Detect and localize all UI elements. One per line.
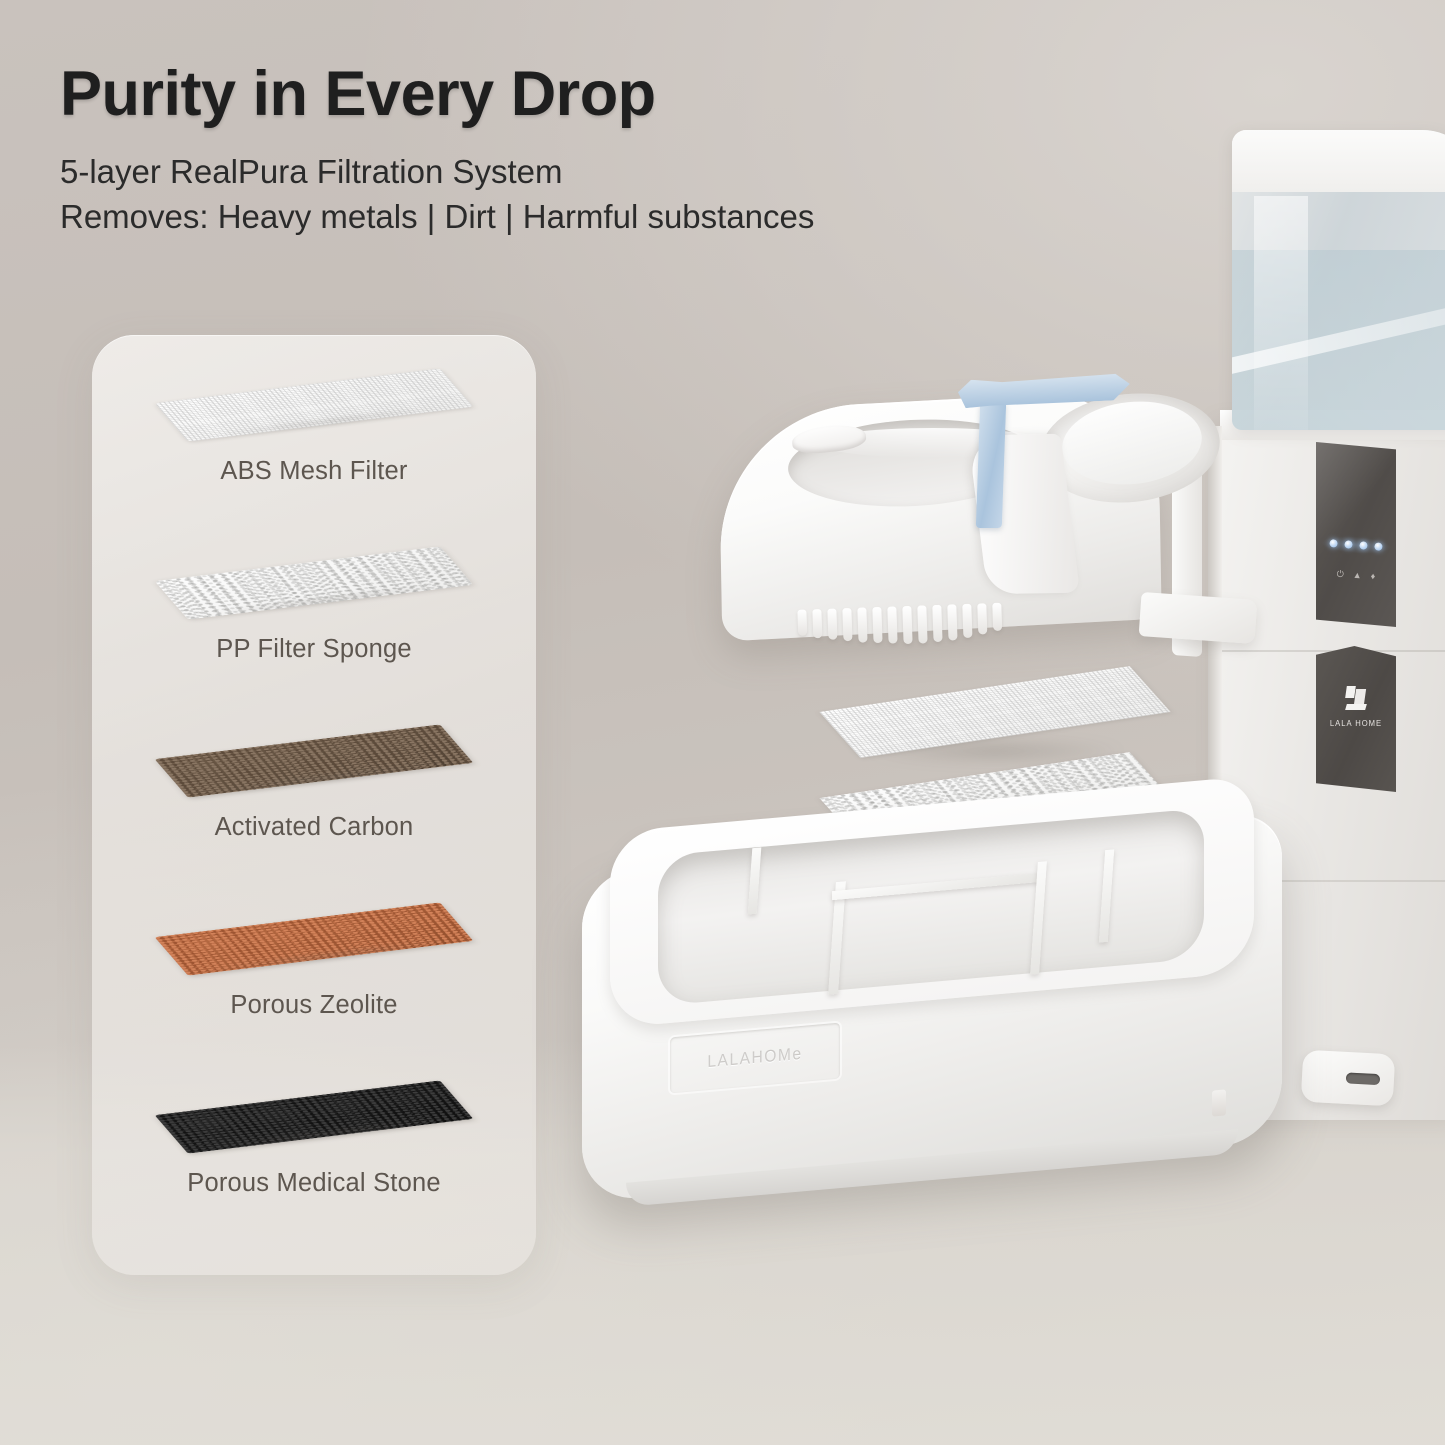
- mesh-plate-icon: [155, 368, 474, 441]
- led-indicator-1: [1329, 539, 1338, 548]
- pp-sponge-illustration: [149, 535, 479, 631]
- porous-zeolite-illustration: [149, 891, 479, 987]
- power-icon: ⏻: [1336, 569, 1344, 580]
- legend-label-4: Porous Medical Stone: [92, 1169, 536, 1198]
- brand-plate: LALA HOME: [1316, 646, 1396, 792]
- legend-label-2: Activated Carbon: [92, 813, 536, 842]
- legend-item-porous-zeolite: Porous Zeolite: [92, 891, 536, 1020]
- tank-cap: [1232, 130, 1445, 192]
- brand-plate-label: LALA HOME: [1330, 718, 1382, 728]
- sponge-plate-icon: [155, 546, 474, 619]
- control-panel[interactable]: ⏻ ▲ ♦: [1316, 442, 1396, 627]
- water-spout-stem: [976, 402, 1006, 528]
- filter-legend-panel: ABS Mesh Filter PP Filter Sponge Activat…: [92, 335, 536, 1275]
- zeolite-granule-bed-icon: [155, 902, 474, 975]
- carbon-granule-bed-icon: [155, 724, 474, 797]
- tray-contact-pin: [1212, 1089, 1226, 1116]
- cover-comb-teeth: [797, 602, 1018, 650]
- product-infographic: Purity in Every Drop 5-layer RealPura Fi…: [0, 0, 1445, 1445]
- porous-medical-stone-illustration: [149, 1069, 479, 1165]
- legend-label-1: PP Filter Sponge: [92, 635, 536, 664]
- product-render: ⏻ ▲ ♦ LALA HOME: [560, 90, 1445, 1445]
- water-tank: [1232, 130, 1445, 430]
- drop-icon: ♦: [1370, 571, 1375, 582]
- activated-carbon-illustration: [149, 713, 479, 809]
- stone-granule-bed-icon: [155, 1080, 474, 1153]
- legend-item-activated-carbon: Activated Carbon: [92, 713, 536, 842]
- base-logo-text: LALAHOMe: [707, 1044, 802, 1072]
- led-indicator-3: [1359, 541, 1368, 550]
- fountain-base-tray: LALAHOMe: [582, 790, 1282, 1190]
- legend-item-porous-medical-stone: Porous Medical Stone: [92, 1069, 536, 1198]
- led-indicator-4: [1374, 542, 1383, 551]
- led-indicator-2: [1344, 540, 1353, 549]
- pet-icon: ▲: [1352, 570, 1362, 582]
- usb-c-port-icon: [1346, 1072, 1381, 1085]
- legend-label-0: ABS Mesh Filter: [92, 457, 536, 486]
- legend-item-pp-filter-sponge: PP Filter Sponge: [92, 535, 536, 664]
- lalahome-logo-icon: [1344, 686, 1368, 712]
- abs-mesh-filter-illustration: [149, 357, 479, 453]
- legend-label-3: Porous Zeolite: [92, 991, 536, 1020]
- usb-c-port-housing: [1301, 1050, 1396, 1107]
- legend-item-abs-mesh-filter: ABS Mesh Filter: [92, 357, 536, 486]
- tank-highlight: [1254, 196, 1308, 430]
- cover-side-arm: [1139, 592, 1258, 644]
- fountain-cover-assembly: [710, 340, 1230, 670]
